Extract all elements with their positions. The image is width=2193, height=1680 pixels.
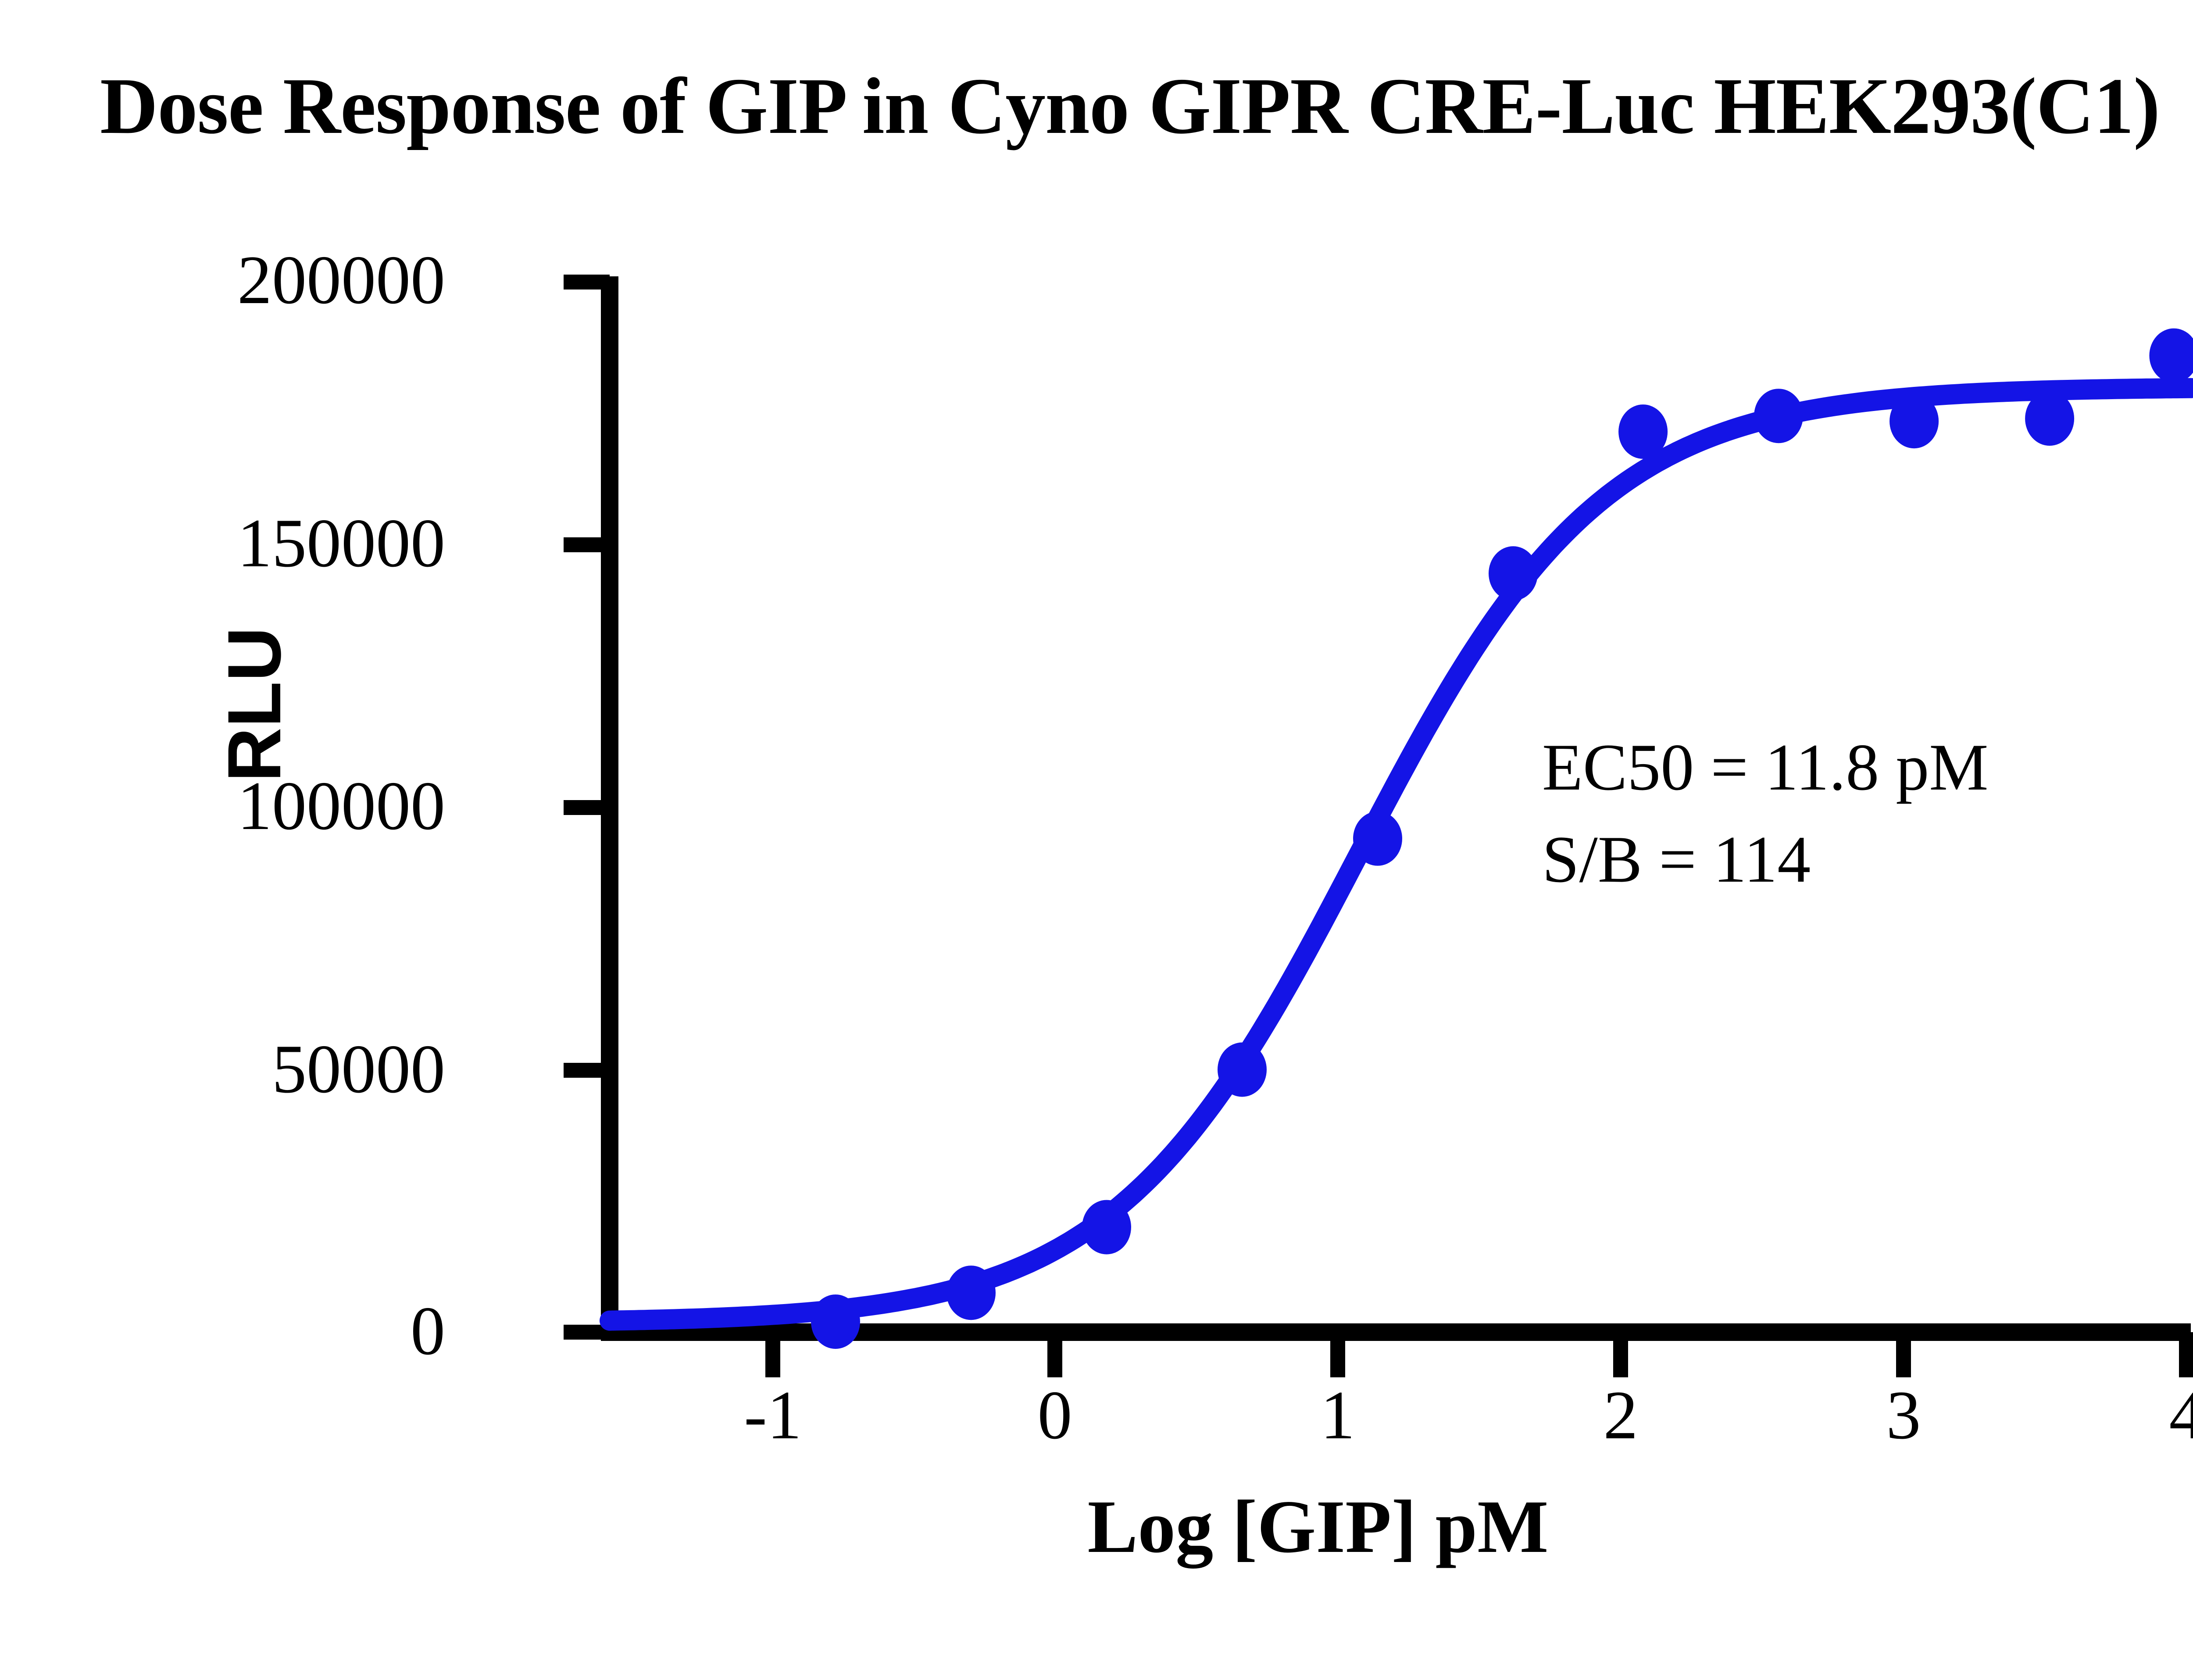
data-point — [946, 1265, 996, 1320]
data-point — [1618, 404, 1668, 459]
data-point — [1082, 1200, 1131, 1255]
dose-response-fit-curve — [610, 388, 2191, 1321]
data-point — [2025, 391, 2074, 446]
data-point — [1489, 546, 1538, 601]
chart-svg — [0, 0, 2193, 1680]
data-point — [1889, 394, 1939, 448]
data-point — [1218, 1043, 1267, 1097]
data-point — [811, 1294, 860, 1349]
chart-plot-area: RLU 0 50000 100000 150000 200000 -1 0 1 … — [0, 0, 2193, 1680]
data-point — [1353, 811, 1402, 866]
data-point-markers — [811, 329, 2193, 1349]
data-point — [1754, 389, 1803, 443]
data-point — [2149, 329, 2193, 383]
